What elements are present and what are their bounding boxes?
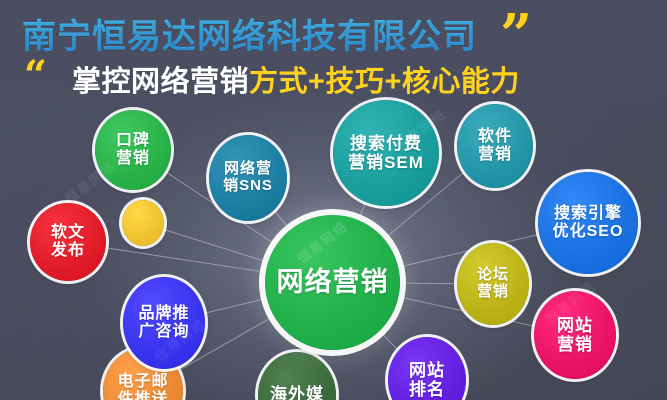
bubble-sns-marketing[interactable]: 网络营销SNS [209,135,287,221]
bubble-label: 品牌推广咨询 [138,305,189,341]
bubble-label: 电子邮件推送 [117,373,168,400]
bubble-sem-marketing[interactable]: 搜索付费营销SEM [333,100,439,206]
bubble-word-of-mouth[interactable]: 口碑营销 [95,110,171,190]
bubble-seo-optimization[interactable]: 搜索引擎优化SEO [538,172,638,274]
center-bubble-network-marketing[interactable]: 网络营销 [265,215,400,350]
bubble-forum-marketing[interactable]: 论坛营销 [457,243,529,325]
bubble-soft-article[interactable]: 软文发布 [30,203,106,281]
bubble-label: 软件营销 [478,128,512,164]
bubble-label: 口碑营销 [116,132,150,168]
bubble-website-marketing[interactable]: 网站营销 [534,291,616,379]
bubble-label: 网站排名 [409,361,445,399]
bubble-label: 搜索引擎优化SEO [553,205,624,241]
bubble-brand-promotion[interactable]: 品牌推广咨询 [123,277,205,369]
marketing-diagram-poster: 口碑营销网络营销SNS搜索付费营销SEM软件营销搜索引擎优化SEO论坛营销网站营… [0,0,667,400]
bubble-label: 海外媒 [270,385,324,400]
bubble-label: 论坛营销 [477,267,509,301]
bubble-blank-yellow[interactable] [122,200,164,246]
bubble-software-marketing[interactable]: 软件营销 [457,104,533,188]
bubble-label: 网络营销SNS [223,161,273,195]
bubble-label: 搜索付费营销SEM [348,134,424,172]
bubble-label: 网站营销 [557,316,593,354]
bubble-label: 软文发布 [51,224,85,260]
bubble-label: 网络营销 [277,267,389,297]
